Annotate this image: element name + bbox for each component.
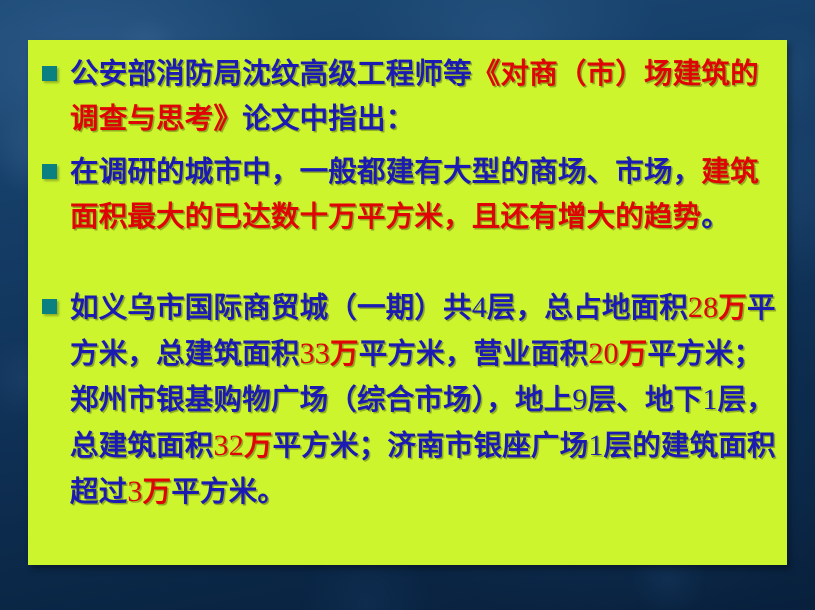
inline-number: 4 [472, 291, 487, 324]
inline-text: 层、地下 [588, 385, 703, 416]
bullet-item-3-text: 如义乌市国际商贸城（一期）共4层，总占地面积28万平方米，总建筑面积33万平方米… [70, 285, 781, 515]
inline-number: 1 [702, 383, 717, 416]
inline-number: 3 [127, 475, 142, 508]
inline-text: 平方米；济南市银座广场 [273, 431, 589, 462]
inline-number: 28 [688, 291, 718, 324]
inline-text: 平方米，营业面积 [359, 339, 589, 370]
inline-text: 万 [718, 293, 747, 324]
inline-text: 平方米。 [171, 477, 286, 508]
bullet-item-1-text: 公安部消防局沈纹高级工程师等《对商（市）场建筑的调查与思考》论文中指出： [70, 52, 781, 142]
slide-content-panel: 公安部消防局沈纹高级工程师等《对商（市）场建筑的调查与思考》论文中指出： 在调研… [28, 40, 787, 565]
bullet-item-3: 如义乌市国际商贸城（一期）共4层，总占地面积28万平方米，总建筑面积33万平方米… [42, 285, 781, 515]
inline-text: 万 [244, 431, 273, 462]
inline-number: 32 [214, 429, 244, 462]
inline-number: 1 [588, 429, 603, 462]
square-bullet-icon [42, 299, 57, 314]
inline-text: 如义乌市国际商贸城（一期）共 [70, 293, 472, 324]
inline-number: 33 [300, 337, 330, 370]
inline-text: 在调研的城市中，一般都建有大型的商场、市场， [70, 157, 701, 188]
bullet-item-2-text: 在调研的城市中，一般都建有大型的商场、市场，建筑面积最大的已达数十万平方米，且还… [70, 150, 781, 240]
inline-text: 。 [701, 202, 730, 233]
presentation-slide: 公安部消防局沈纹高级工程师等《对商（市）场建筑的调查与思考》论文中指出： 在调研… [0, 0, 815, 610]
bullet-item-1: 公安部消防局沈纹高级工程师等《对商（市）场建筑的调查与思考》论文中指出： [42, 52, 781, 142]
square-bullet-icon [42, 164, 57, 179]
inline-text: 万 [143, 477, 172, 508]
inline-text: 万 [619, 339, 648, 370]
bullet-item-2: 在调研的城市中，一般都建有大型的商场、市场，建筑面积最大的已达数十万平方米，且还… [42, 150, 781, 240]
square-bullet-icon [42, 66, 57, 81]
inline-number: 20 [588, 337, 618, 370]
inline-text: 万 [330, 339, 359, 370]
inline-text: 公安部消防局沈纹高级工程师等 [70, 59, 472, 90]
inline-text: 层，总占地面积 [487, 293, 688, 324]
inline-text: 论文中指出： [242, 104, 414, 135]
inline-number: 9 [572, 383, 587, 416]
